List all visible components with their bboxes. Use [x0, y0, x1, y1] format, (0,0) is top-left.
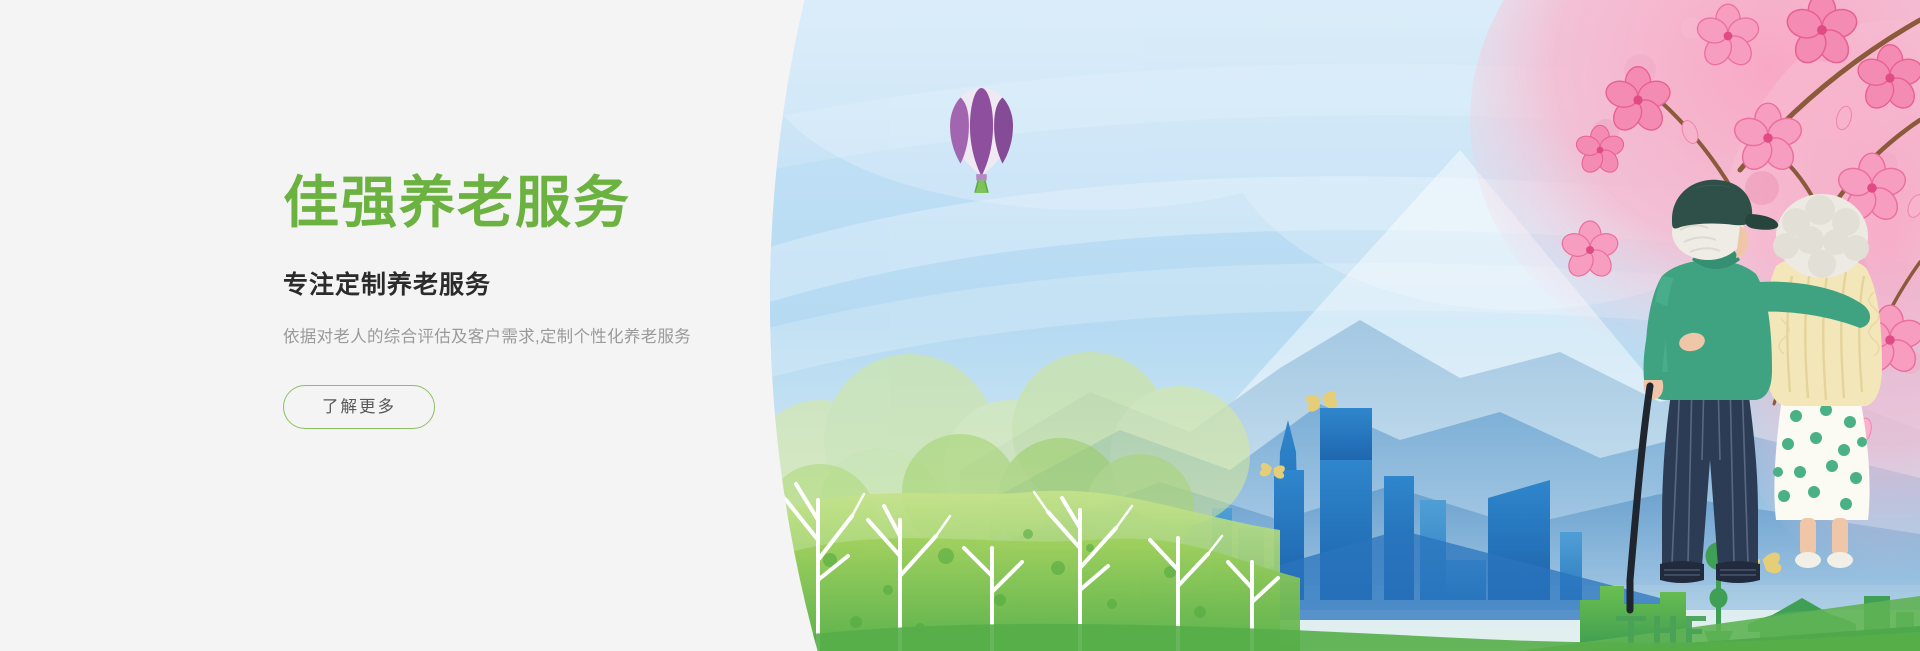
hero-subtitle: 专注定制养老服务 [283, 265, 803, 301]
page-title: 佳强养老服务 [283, 172, 803, 235]
hero-description: 依据对老人的综合评估及客户需求,定制个性化养老服务 [283, 323, 803, 347]
hero-text-block: 佳强养老服务 专注定制养老服务 依据对老人的综合评估及客户需求,定制个性化养老服… [283, 172, 803, 429]
learn-more-button[interactable]: 了解更多 [283, 385, 435, 430]
illustration-clip-area [760, 0, 1920, 651]
hero-banner: 佳强养老服务 专注定制养老服务 依据对老人的综合评估及客户需求,定制个性化养老服… [0, 0, 1920, 651]
scenery-artwork [760, 0, 1920, 651]
hero-illustration [760, 0, 1920, 651]
